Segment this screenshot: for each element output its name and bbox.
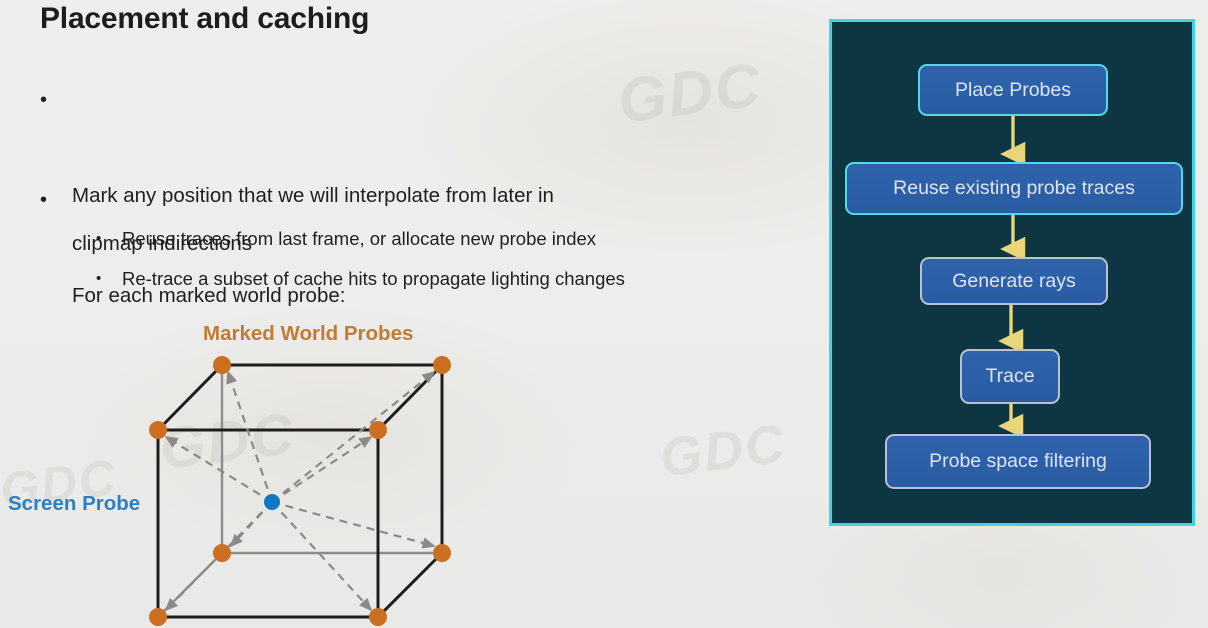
- cube-front-edges: [158, 365, 442, 617]
- flow-node-label: Place Probes: [955, 79, 1071, 102]
- probe-dot: [433, 544, 451, 562]
- probe-dot: [369, 608, 387, 626]
- probe-dot: [149, 421, 167, 439]
- screen-probe-dot: [264, 494, 280, 510]
- probe-cube-diagram: [0, 0, 520, 628]
- probe-dot: [213, 356, 231, 374]
- flow-node-label: Probe space filtering: [929, 450, 1107, 473]
- flow-node-label: Trace: [985, 365, 1034, 388]
- flow-node-label: Generate rays: [952, 270, 1076, 293]
- flow-node-place-probes[interactable]: Place Probes: [918, 64, 1108, 116]
- flow-node-generate-rays[interactable]: Generate rays: [920, 257, 1108, 305]
- slide-canvas: GDC GDC GDC GDC Placement and caching • …: [0, 0, 1208, 628]
- flow-node-label: Reuse existing probe traces: [893, 177, 1135, 200]
- probe-dot: [213, 544, 231, 562]
- flowchart-panel: Place Probes Reuse existing probe traces…: [829, 19, 1195, 526]
- probe-rays: [166, 372, 434, 610]
- probe-dot: [369, 421, 387, 439]
- watermark-logo: GDC: [657, 413, 790, 490]
- flow-node-reuse-existing[interactable]: Reuse existing probe traces: [845, 162, 1183, 215]
- flow-node-trace[interactable]: Trace: [960, 349, 1060, 404]
- marked-world-probe-dots: [149, 356, 451, 626]
- probe-dot: [433, 356, 451, 374]
- probe-dot: [149, 608, 167, 626]
- flow-node-probe-space-filtering[interactable]: Probe space filtering: [885, 434, 1151, 489]
- cube-back-edges: [158, 365, 442, 617]
